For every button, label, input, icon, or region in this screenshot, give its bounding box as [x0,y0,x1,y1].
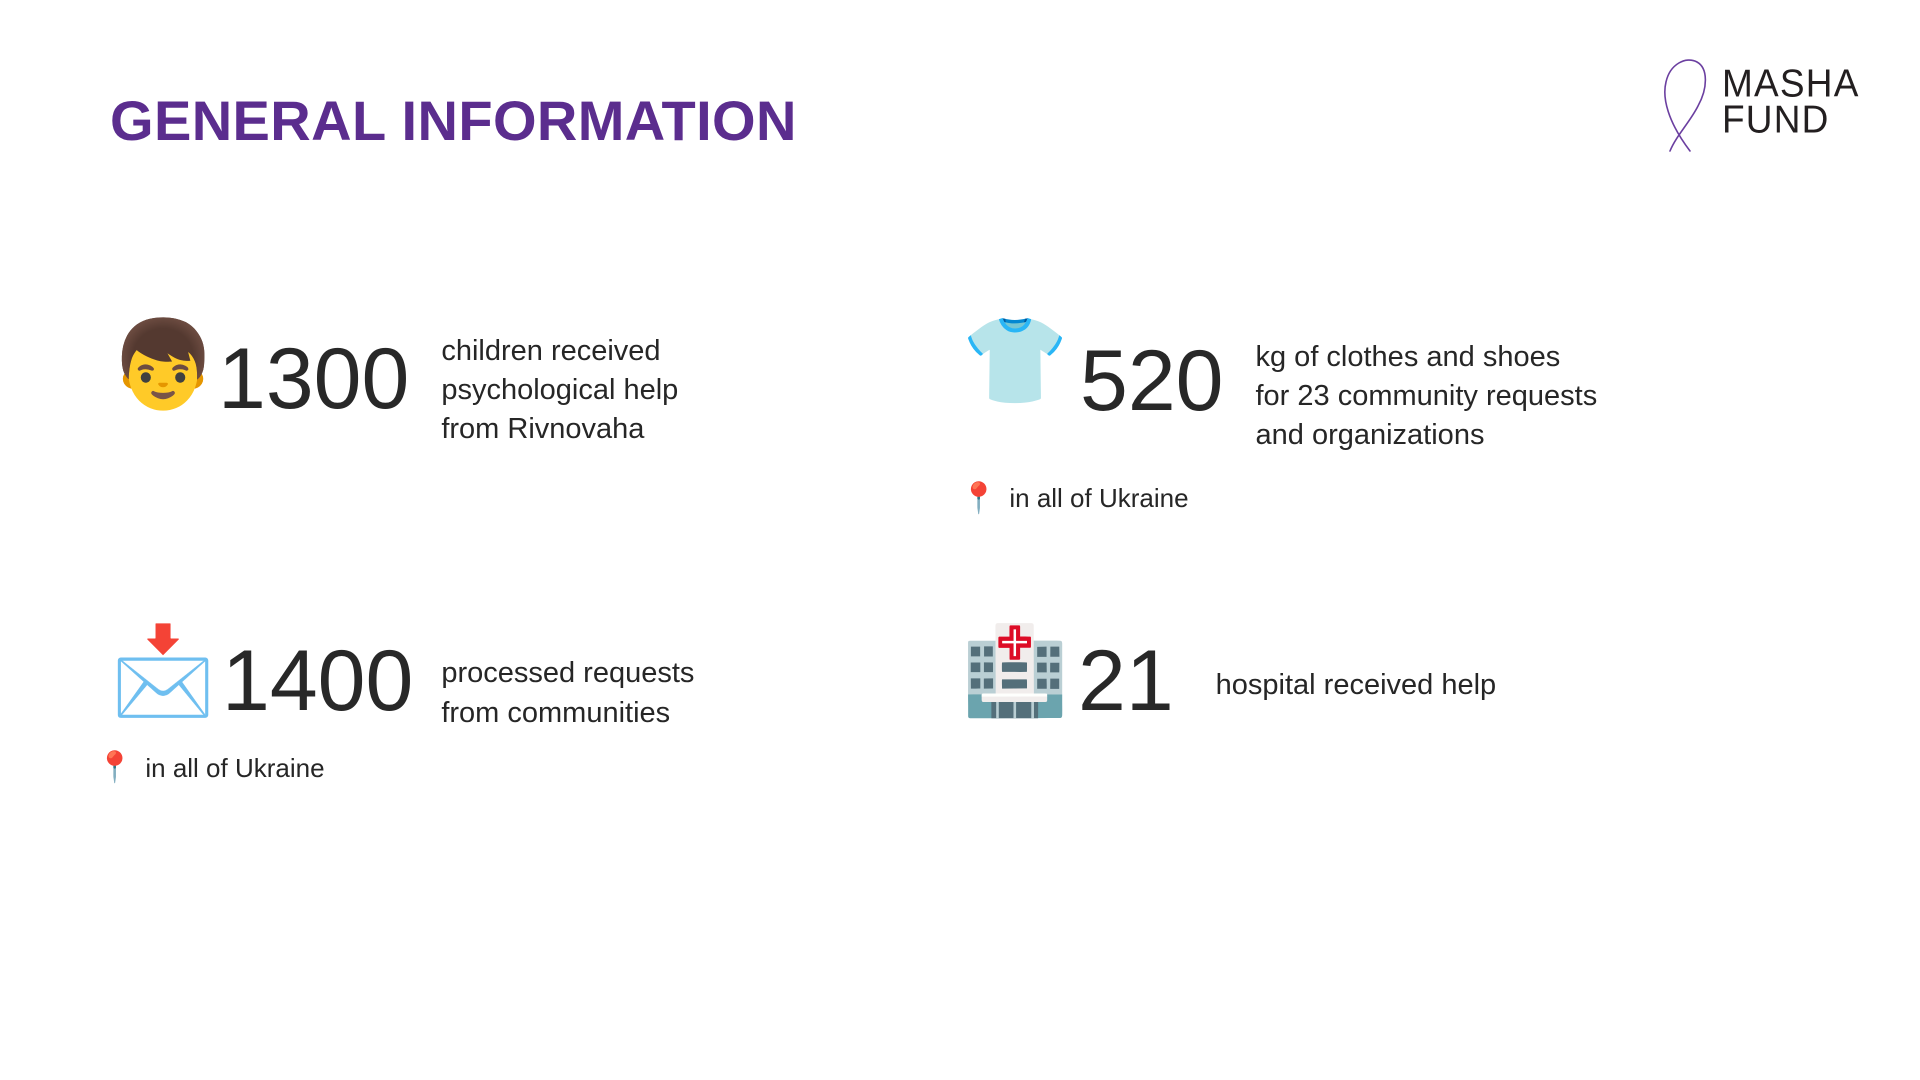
logo-wordmark: MASHA FUND [1722,66,1860,139]
stat-note-label: in all of Ukraine [145,753,324,784]
row-spacer [0,514,1920,634]
stat-description: children received psychological help fro… [441,328,678,449]
stat-block: 📩 1400 processed requests from communiti… [108,634,872,732]
stat-value: 1400 [222,638,413,724]
stats-row-2: 📩 1400 processed requests from communiti… [0,634,1920,783]
tshirt-emoji-icon: 👕 [960,318,1070,404]
stat-cell-requests: 📩 1400 processed requests from communiti… [0,634,872,783]
stat-description: hospital received help [1216,662,1497,705]
stat-value: 21 [1078,638,1174,724]
round-pushpin-icon: 📍 [960,484,997,514]
incoming-envelope-emoji-icon: 📩 [108,628,218,714]
stat-cell-hospital: 🏥 21 hospital received help [872,634,1920,783]
stat-cell-clothes: 👕 520 kg of clothes and shoes for 23 com… [872,330,1920,514]
stat-description: processed requests from communities [441,650,694,732]
ribbon-loop-icon [1660,52,1712,152]
page-title: GENERAL INFORMATION [110,88,797,153]
boy-emoji-icon: 👦 [108,322,218,408]
stat-block: 👕 520 kg of clothes and shoes for 23 com… [960,330,1920,455]
stats-grid: 👦 1300 children received psychological h… [0,330,1920,784]
stat-cell-children: 👦 1300 children received psychological h… [0,330,872,514]
masha-fund-logo: MASHA FUND [1660,52,1860,152]
stat-description: kg of clothes and shoes for 23 community… [1256,334,1598,455]
hospital-emoji-icon: 🏥 [960,628,1070,714]
logo-line-2: FUND [1722,101,1860,139]
logo-line-1: MASHA [1722,65,1860,103]
stat-value: 1300 [218,336,409,422]
stats-row-1: 👦 1300 children received psychological h… [0,330,1920,514]
stat-note: 📍 in all of Ukraine [960,483,1920,514]
stat-block: 🏥 21 hospital received help [960,634,1920,724]
stat-value: 520 [1080,338,1224,424]
round-pushpin-icon: 📍 [96,753,133,783]
stat-note: 📍 in all of Ukraine [96,753,872,784]
stat-note-label: in all of Ukraine [1009,483,1188,514]
slide: MASHA FUND GENERAL INFORMATION 👦 1300 ch… [0,0,1920,1080]
stat-block: 👦 1300 children received psychological h… [108,330,872,449]
